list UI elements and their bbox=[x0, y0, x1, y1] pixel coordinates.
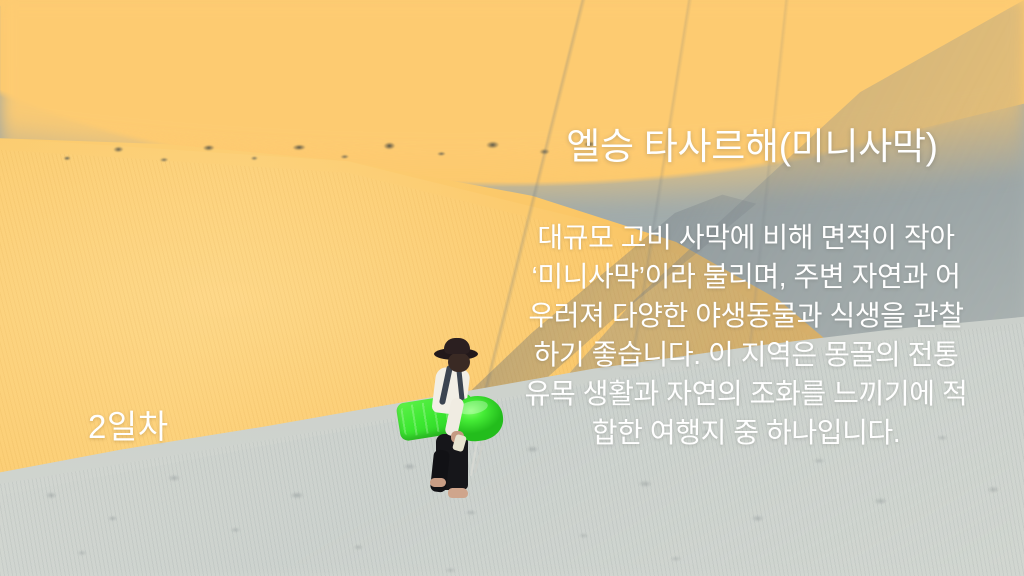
description-line: 유목 생활과 자연의 조화를 느끼기에 적 bbox=[504, 374, 988, 413]
description-line: ‘미니사막’이라 불리며, 주변 자연과 어 bbox=[504, 257, 988, 296]
travel-slide: 2일차 엘승 타사르해(미니사막) 대규모 고비 사막에 비해 면적이 작아 ‘… bbox=[0, 0, 1024, 576]
description-line: 하기 좋습니다. 이 지역은 몽골의 전통 bbox=[504, 335, 988, 374]
front-foot bbox=[448, 488, 468, 498]
face bbox=[448, 353, 470, 372]
back-foot bbox=[430, 478, 446, 487]
day-label: 2일차 bbox=[88, 409, 169, 445]
person-with-sand-sled bbox=[396, 338, 514, 508]
hat-crown bbox=[444, 338, 470, 354]
description-line: 합한 여행지 중 하나입니다. bbox=[504, 413, 988, 452]
slide-description: 대규모 고비 사막에 비해 면적이 작아 ‘미니사막’이라 불리며, 주변 자연… bbox=[504, 218, 988, 452]
description-line: 대규모 고비 사막에 비해 면적이 작아 bbox=[504, 218, 988, 257]
slide-title: 엘승 타사르해(미니사막) bbox=[512, 124, 992, 170]
description-line: 우러져 다양한 야생동물과 식생을 관찰 bbox=[504, 296, 988, 335]
